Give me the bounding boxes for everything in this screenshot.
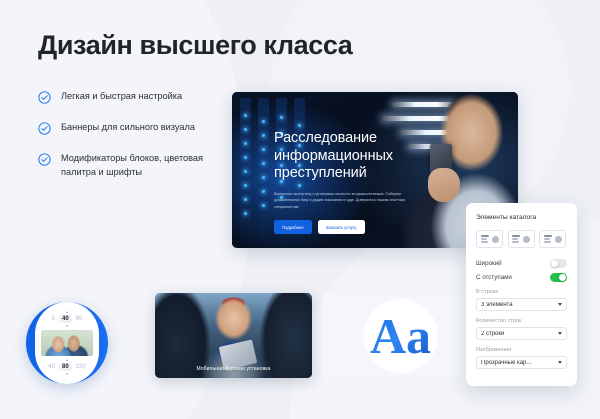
banner-buttons: Подробнее Заказать услугу: [274, 220, 434, 234]
chevron-down-icon: [558, 361, 562, 364]
list-item: Баннеры для сильного визуала: [38, 121, 218, 135]
rows-count-label: Количество строк: [476, 318, 567, 324]
feature-label: Модификаторы блоков, цветовая палитра и …: [61, 152, 218, 179]
slide-canvas: Дизайн высшего класса Легкая и быстрая н…: [0, 0, 600, 419]
images-label: Изображения: [476, 347, 567, 353]
lines-icon: [544, 235, 552, 242]
page-title: Дизайн высшего класса: [38, 30, 352, 61]
widget-preview-photo: [41, 330, 93, 356]
height-stepper[interactable]: 40 80 130: [48, 363, 85, 371]
feature-label: Легкая и быстрая настройка: [61, 90, 182, 104]
typography-glyph: Aa: [370, 311, 431, 361]
chevron-down-icon: [558, 303, 562, 306]
rows-count-field: Количество строк 2 строки: [476, 318, 567, 340]
banner-subtitle: Выполним экспертизу и установим личности…: [274, 191, 424, 211]
images-field: Изображения Прозрачные кар...: [476, 347, 567, 369]
list-item: Модификаторы блоков, цветовая палитра и …: [38, 152, 218, 179]
select-value: 2 строки: [481, 331, 504, 337]
toggle-knob: [551, 260, 558, 267]
wide-toggle[interactable]: [550, 259, 567, 268]
stepper-current-value[interactable]: 40: [59, 315, 72, 323]
circular-size-widget[interactable]: ▴ 0 40 80 ▾ ▴ 40 80 130 ▾: [26, 302, 108, 384]
catalog-settings-panel[interactable]: Элементы каталога Широкий С отступами: [466, 203, 577, 386]
banner-title: Расследование информационных преступлени…: [274, 130, 434, 183]
layout-preset-2-button[interactable]: [508, 230, 535, 248]
width-stepper[interactable]: 0 40 80: [52, 315, 83, 323]
check-circle-icon: [38, 153, 51, 166]
spinner-inner: ▴ 0 40 80 ▾ ▴ 40 80 130 ▾: [35, 302, 99, 384]
order-service-button[interactable]: Заказать услугу: [318, 220, 365, 234]
chevron-down-icon: [558, 332, 562, 335]
images-select[interactable]: Прозрачные кар...: [476, 356, 567, 369]
toggle-knob: [559, 274, 566, 281]
items-per-row-select[interactable]: 3 элемента: [476, 298, 567, 311]
chevron-up-icon[interactable]: ▴: [66, 358, 68, 362]
layout-preset-3-button[interactable]: [539, 230, 566, 248]
stepper-max-value[interactable]: 80: [76, 316, 83, 322]
padding-toggle-label: С отступами: [476, 274, 512, 281]
items-per-row-label: В строке: [476, 289, 567, 295]
details-button[interactable]: Подробнее: [274, 220, 312, 234]
banner-content: Расследование информационных преступлени…: [274, 130, 434, 234]
layout-preset-row: [476, 230, 567, 248]
layout-preset-1-button[interactable]: [476, 230, 503, 248]
wide-toggle-row: Широкий: [476, 259, 567, 268]
typography-card[interactable]: Aa: [322, 293, 479, 378]
circle-icon: [492, 236, 499, 243]
panel-title: Элементы каталога: [476, 214, 567, 221]
rows-count-select[interactable]: 2 строки: [476, 327, 567, 340]
stepper-current-value[interactable]: 80: [59, 363, 72, 371]
circle-icon: [555, 236, 562, 243]
padding-toggle[interactable]: [550, 273, 567, 282]
items-per-row-field: В строке 3 элемента: [476, 289, 567, 311]
stepper-min-value[interactable]: 40: [48, 364, 55, 370]
list-item: Легкая и быстрая настройка: [38, 90, 218, 104]
drilling-rig-card[interactable]: Мобильная буровая установка: [155, 293, 312, 378]
circle-icon: [523, 236, 530, 243]
check-circle-icon: [38, 91, 51, 104]
select-value: 3 элемента: [481, 302, 513, 308]
stepper-max-value[interactable]: 130: [76, 364, 86, 370]
chevron-up-icon[interactable]: ▴: [66, 310, 68, 314]
rig-caption: Мобильная буровая установка: [155, 366, 312, 372]
feature-list: Легкая и быстрая настройка Баннеры для с…: [38, 90, 218, 196]
wide-toggle-label: Широкий: [476, 260, 502, 267]
padding-toggle-row: С отступами: [476, 273, 567, 282]
chevron-down-icon[interactable]: ▾: [66, 324, 68, 328]
lines-icon: [512, 235, 520, 242]
chevron-down-icon[interactable]: ▾: [66, 372, 68, 376]
stepper-min-value[interactable]: 0: [52, 316, 55, 322]
select-value: Прозрачные кар...: [481, 360, 531, 366]
lines-icon: [481, 235, 489, 242]
check-circle-icon: [38, 122, 51, 135]
feature-label: Баннеры для сильного визуала: [61, 121, 195, 135]
